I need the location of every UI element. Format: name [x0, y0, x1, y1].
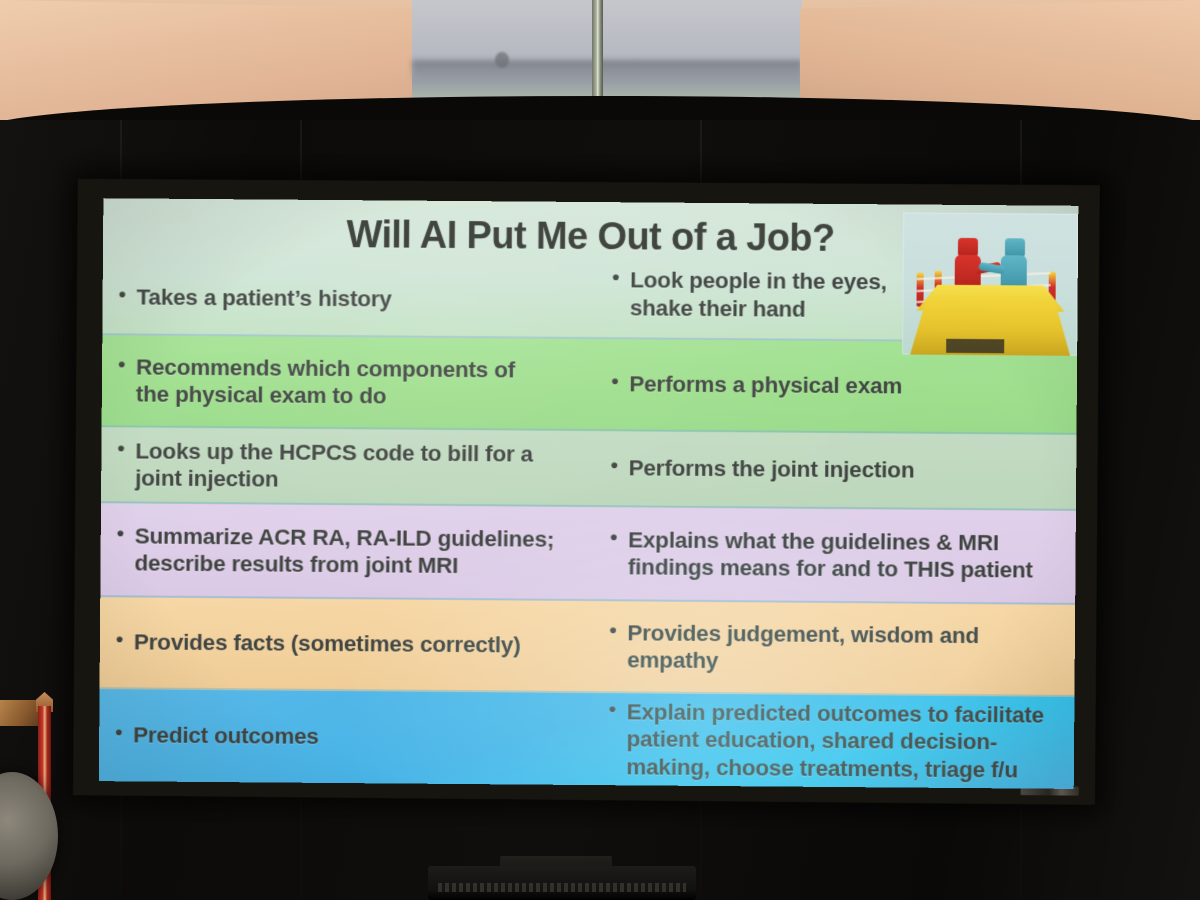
list-item: Explains what the guidelines & MRI — [608, 526, 1033, 557]
list-item: Provides facts (sometimes correctly) — [114, 629, 521, 660]
row-4-left-cell: Summarize ACR RA, RA-ILD guidelines; des… — [100, 522, 588, 581]
ceiling-smudge — [495, 52, 509, 68]
list-item-cont: describe results from joint MRI — [114, 549, 554, 580]
row-6-left-cell: Predict outcomes — [99, 721, 587, 752]
list-item: Takes a patient’s history — [117, 283, 392, 313]
list-item: Look people in the eyes, — [610, 266, 887, 296]
ceiling-shadow — [412, 60, 802, 82]
row-6-right-cell: Explain predicted outcomes to facilitate… — [586, 698, 1074, 784]
row-5-right-cell: Provides judgement, wisdom and empathy — [587, 619, 1075, 678]
presentation-slide: Will AI Put Me Out of a Job? Takes a pat… — [99, 198, 1078, 789]
flag-cloth — [0, 700, 42, 726]
ring-brand-label — [946, 339, 1004, 353]
list-item: Predict outcomes — [113, 722, 319, 751]
list-item-cont: shake their hand — [610, 294, 887, 324]
laptop-keyboard — [438, 883, 686, 892]
list-item-cont: empathy — [607, 646, 979, 676]
list-item-cont: patient education, shared decision- — [606, 725, 1043, 756]
list-item: Performs a physical exam — [609, 370, 902, 400]
projection-screen: Will AI Put Me Out of a Job? Takes a pat… — [73, 179, 1100, 805]
list-item: Summarize ACR RA, RA-ILD guidelines; — [115, 522, 555, 553]
row-2-left-cell: Recommends which components of the physi… — [102, 353, 590, 412]
row-4-right-cell: Explains what the guidelines & MRI findi… — [588, 526, 1076, 585]
row-2-right-cell: Performs a physical exam — [589, 370, 1077, 401]
list-item: Performs the joint injection — [609, 454, 915, 484]
table-row: Summarize ACR RA, RA-ILD guidelines; des… — [100, 503, 1076, 605]
list-item: Recommends which components of — [116, 353, 515, 384]
table-row: Provides facts (sometimes correctly) Pro… — [100, 597, 1076, 697]
table-row: Looks up the HCPCS code to bill for a jo… — [101, 427, 1077, 511]
list-item: Explain predicted outcomes to facilitate — [607, 698, 1044, 729]
list-item-cont: the physical exam to do — [116, 380, 515, 411]
list-item-cont: joint injection — [115, 464, 533, 495]
row-5-left-cell: Provides facts (sometimes correctly) — [100, 628, 588, 659]
ceiling — [0, 0, 1200, 132]
table-row: Predict outcomes Explain predicted outco… — [99, 689, 1075, 789]
list-item: Provides judgement, wisdom and — [607, 619, 979, 649]
conference-room-photo: Will AI Put Me Out of a Job? Takes a pat… — [0, 0, 1200, 900]
row-3-right-cell: Performs the joint injection — [589, 454, 1077, 485]
list-item-cont: findings means for and to THIS patient — [608, 553, 1033, 584]
rock-em-sock-em-robots-photo — [902, 212, 1078, 355]
list-item-cont: making, choose treatments, triage f/u — [606, 753, 1043, 784]
row-3-left-cell: Looks up the HCPCS code to bill for a jo… — [101, 437, 589, 496]
list-item: Looks up the HCPCS code to bill for a — [115, 437, 533, 468]
